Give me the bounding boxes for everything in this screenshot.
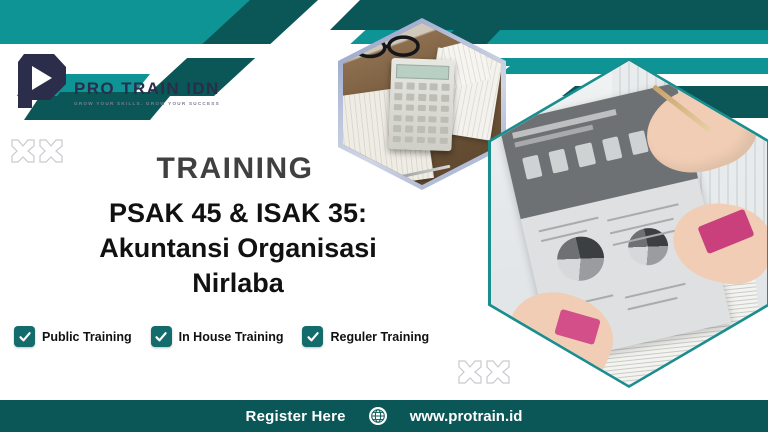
brand-name: PRO TRAIN IDN — [74, 80, 220, 97]
globe-icon — [368, 406, 388, 426]
title-line-1: PSAK 45 & ISAK 35: — [18, 196, 458, 231]
register-here-label[interactable]: Register Here — [246, 408, 346, 425]
eyebrow-training: TRAINING — [0, 152, 470, 186]
title-line-3: Nirlaba — [18, 266, 458, 301]
badge-label: Public Training — [42, 330, 132, 344]
website-url[interactable]: www.protrain.id — [410, 408, 523, 425]
brand-logo[interactable]: PRO TRAIN IDN GROW YOUR SKILLS. GROW YOU… — [14, 50, 220, 112]
badge-label: Reguler Training — [330, 330, 429, 344]
pro-train-arrow-logo-icon — [14, 50, 68, 112]
badge-public-training[interactable]: Public Training — [14, 326, 132, 347]
page-title: PSAK 45 & ISAK 35: Akuntansi Organisasi … — [18, 196, 458, 301]
check-icon — [302, 326, 323, 347]
brand-tagline: GROW YOUR SKILLS. GROW YOUR SUCCESS — [74, 101, 220, 106]
check-icon — [14, 326, 35, 347]
badge-reguler-training[interactable]: Reguler Training — [302, 326, 429, 347]
badge-label: In House Training — [179, 330, 284, 344]
footer-bar: Register Here www.protrain.id — [0, 400, 768, 432]
hex-photo-report-review — [488, 58, 768, 388]
title-line-2: Akuntansi Organisasi — [18, 231, 458, 266]
training-type-badges: Public Training In House Training Regule… — [14, 326, 429, 347]
check-icon — [151, 326, 172, 347]
training-promo-banner: PRO TRAIN IDN GROW YOUR SKILLS. GROW YOU… — [0, 0, 768, 432]
badge-in-house-training[interactable]: In House Training — [151, 326, 284, 347]
